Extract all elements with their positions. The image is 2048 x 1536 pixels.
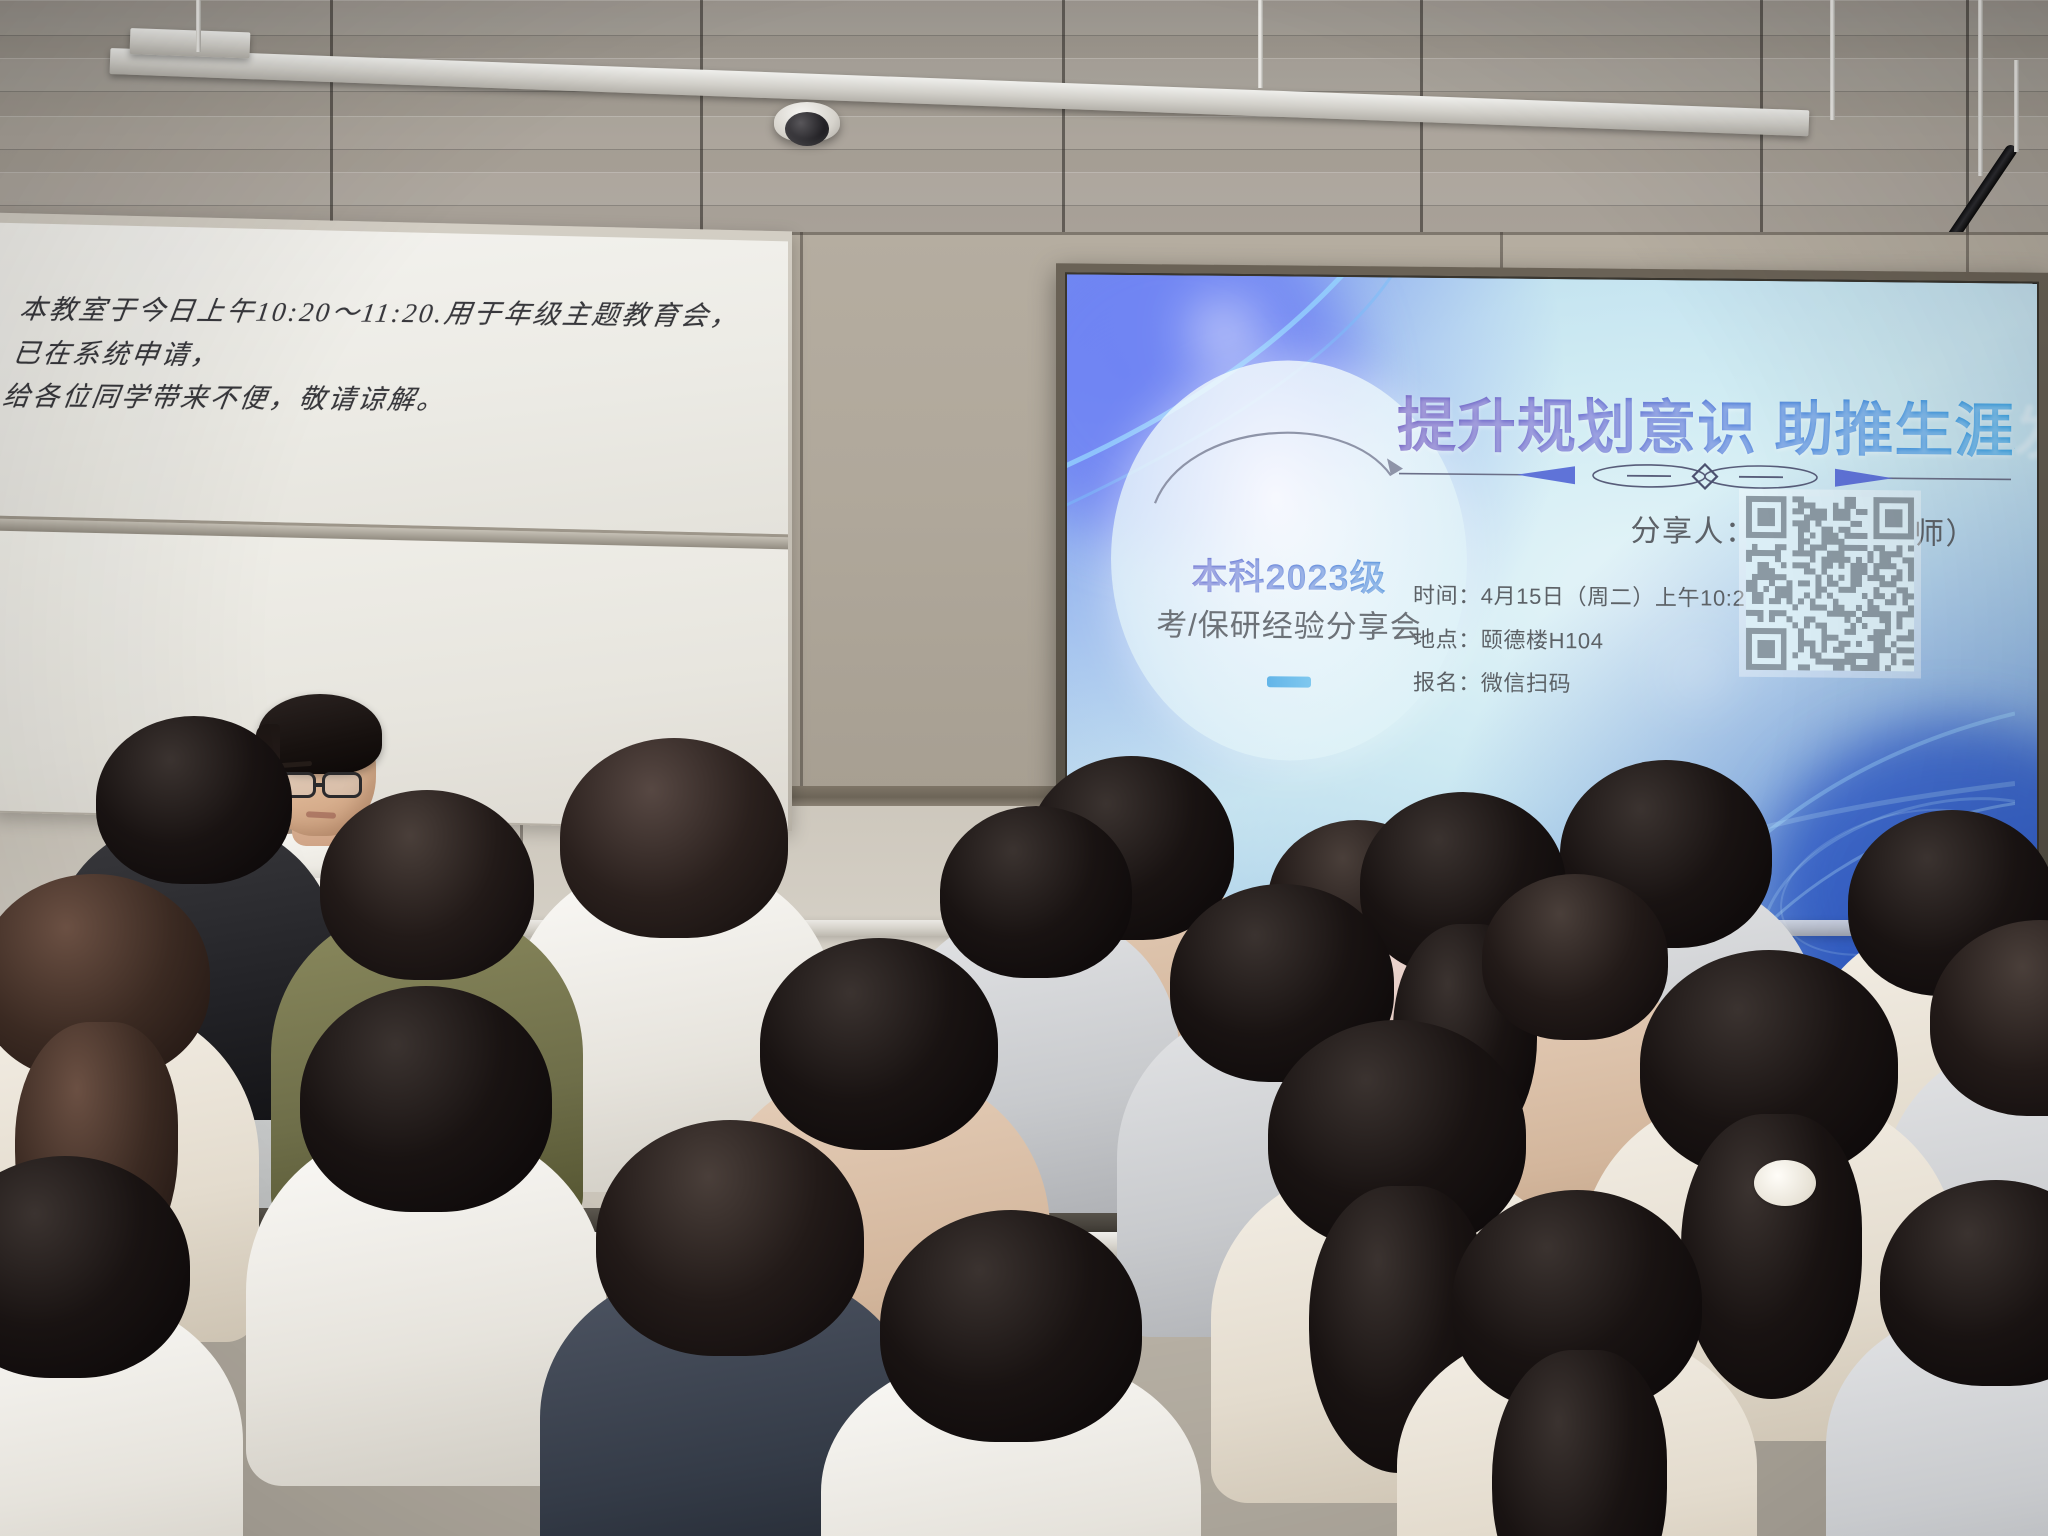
whiteboard-note-line1: 本教室于今日上午10:20～11:20.用于年级主题教育会，已在系统申请，: [11, 294, 742, 369]
audience-member-head: [880, 1210, 1142, 1442]
ceiling-rod-3: [1830, 0, 1835, 120]
hair-scrunchie: [1754, 1160, 1816, 1206]
dome-camera-icon: [785, 112, 829, 146]
audience-member-head: [96, 716, 292, 884]
audience-member-head: [760, 938, 998, 1150]
whiteboard-handwritten-note: 本教室于今日上午10:20～11:20.用于年级主题教育会，已在系统申请， 给各…: [4, 288, 754, 426]
audience-member-head: [300, 986, 552, 1212]
audience-member-head: [596, 1120, 864, 1356]
glasses-lens-right-icon: [322, 772, 362, 798]
audience-member-head: [560, 738, 788, 938]
mic-drop-rod: [2014, 60, 2019, 152]
slide-qr-code[interactable]: [1739, 489, 1921, 679]
whiteboard-surface-top: 本教室于今日上午10:20～11:20.用于年级主题教育会，已在系统申请， 给各…: [0, 223, 788, 538]
ceiling-rod-4: [1978, 0, 1983, 176]
whiteboard-note-line2: 给各位同学带来不便，敬请谅解。: [0, 376, 742, 427]
lecture-hall-photo: 本教室于今日上午10:20～11:20.用于年级主题教育会，已在系统申请， 给各…: [0, 0, 2048, 1536]
slide-curved-arrow-icon: [1147, 395, 1417, 518]
audience-member-ponytail: [1681, 1114, 1862, 1399]
audience-member-head: [1482, 874, 1668, 1040]
audience-member-head: [320, 790, 534, 980]
glasses-bridge-icon: [316, 783, 324, 787]
slide-badge-accent-dash: [1267, 676, 1311, 687]
audience-member-head: [940, 806, 1132, 978]
slide-main-title: 提升规划意识 助推生涯发展: [1397, 378, 2015, 469]
slide-glow-c: [1197, 306, 1251, 361]
ceiling-rod-1: [196, 0, 201, 52]
screen-roller-casing: [130, 28, 251, 58]
ceiling-rod-2: [1258, 0, 1263, 88]
